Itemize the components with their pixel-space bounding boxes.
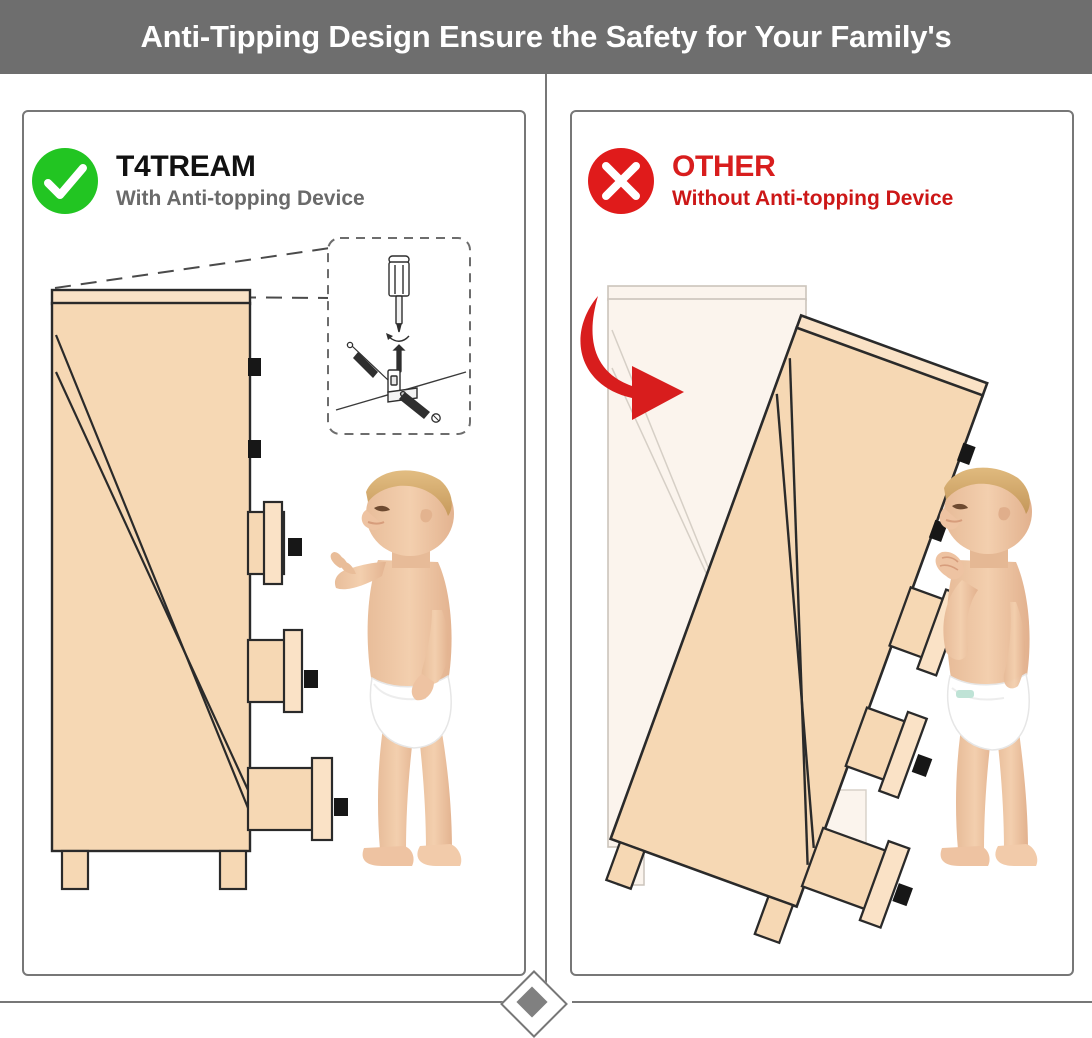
x-circle-icon	[588, 148, 654, 214]
brand-label: OTHER	[672, 151, 953, 183]
toddler-startled	[912, 452, 1072, 902]
page-title: Anti-Tipping Design Ensure the Safety fo…	[140, 19, 951, 55]
center-divider	[545, 74, 547, 1002]
header-banner: Anti-Tipping Design Ensure the Safety fo…	[0, 0, 1092, 74]
baby-hand-reaching	[331, 552, 356, 574]
heading-good: T4TREAM With Anti-topping Device	[32, 148, 365, 214]
baby-foot-front	[417, 844, 461, 866]
baby-foot-front	[995, 844, 1037, 866]
baby-foot-back	[941, 846, 990, 866]
check-circle-icon	[32, 148, 98, 214]
diaper-tab	[956, 690, 974, 698]
infographic-root: Anti-Tipping Design Ensure the Safety fo…	[0, 0, 1092, 1030]
brand-subtitle: With Anti-topping Device	[116, 187, 365, 211]
baby-foot-back	[363, 846, 414, 866]
brand-label: T4TREAM	[116, 151, 365, 183]
brand-subtitle: Without Anti-topping Device	[672, 187, 953, 211]
bottom-rail-left	[0, 1001, 520, 1003]
bottom-rail-right	[572, 1001, 1092, 1003]
heading-bad: OTHER Without Anti-topping Device	[588, 148, 953, 214]
toddler-reaching	[330, 452, 510, 902]
